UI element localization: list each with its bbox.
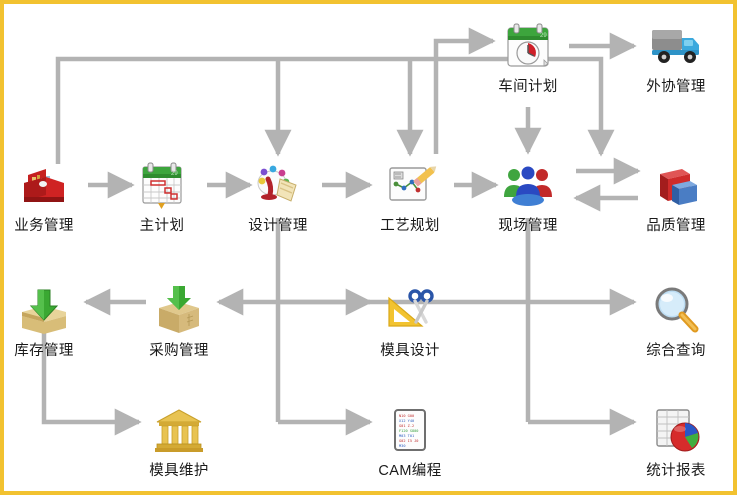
node-business[interactable]: 业务管理: [0, 157, 99, 235]
svg-text:29: 29: [540, 33, 547, 39]
svg-text:M03 T01: M03 T01: [399, 434, 414, 438]
ruler-scissors-icon: [382, 282, 438, 338]
node-label: 品质管理: [621, 217, 731, 235]
node-inventory[interactable]: 库存管理: [0, 282, 99, 360]
node-quality[interactable]: 品质管理: [621, 157, 731, 235]
svg-text:G02 I5 J0: G02 I5 J0: [399, 439, 418, 443]
paint-palette-icon: [250, 157, 306, 213]
node-label: CAM编程: [355, 462, 465, 480]
node-label: 模具维护: [124, 462, 234, 480]
gantt-calendar-icon: 29: [134, 157, 190, 213]
code-document-icon: N10 G00 X12 Y40 G01 Z-2 F120 S800 M03 T0…: [382, 402, 438, 458]
inbox-download-icon: [16, 282, 72, 338]
node-reports[interactable]: 统计报表: [621, 402, 731, 480]
svg-text:X12 Y40: X12 Y40: [399, 419, 414, 423]
red-blue-boxes-icon: [648, 157, 704, 213]
node-label: 设计管理: [223, 217, 333, 235]
diagram-canvas: 29 车间计划: [0, 0, 737, 495]
people-group-icon: [500, 157, 556, 213]
node-label: 主计划: [107, 217, 217, 235]
node-mold-design[interactable]: 模具设计: [355, 282, 465, 360]
node-process-plan[interactable]: 工艺规划: [355, 157, 465, 235]
node-label: 采购管理: [124, 342, 234, 360]
node-workshop-plan[interactable]: 29 车间计划: [473, 18, 583, 96]
node-query[interactable]: 综合查询: [621, 282, 731, 360]
node-master-plan[interactable]: 29 主计划: [107, 157, 217, 235]
calendar-clock-icon: 29: [500, 18, 556, 74]
magnifier-icon: [648, 282, 704, 338]
node-label: 业务管理: [0, 217, 99, 235]
node-label: 现场管理: [473, 217, 583, 235]
svg-text:N10 G00: N10 G00: [399, 414, 414, 418]
node-label: 模具设计: [355, 342, 465, 360]
bank-pillars-icon: [151, 402, 207, 458]
node-cam[interactable]: N10 G00 X12 Y40 G01 Z-2 F120 S800 M03 T0…: [355, 402, 465, 480]
node-label: 工艺规划: [355, 217, 465, 235]
package-download-icon: [151, 282, 207, 338]
wire-business-to-top-bus: [58, 59, 410, 164]
svg-text:F120 S800: F120 S800: [399, 429, 418, 433]
toolbox-icon: [16, 157, 72, 213]
node-shopfloor[interactable]: 现场管理: [473, 157, 583, 235]
node-label: 外协管理: [621, 78, 731, 96]
flowchart-pencil-icon: [382, 157, 438, 213]
node-purchase[interactable]: 采购管理: [124, 282, 234, 360]
node-design[interactable]: 设计管理: [223, 157, 333, 235]
node-outsourcing[interactable]: 外协管理: [621, 18, 731, 96]
svg-text:M30: M30: [399, 444, 406, 448]
svg-text:G01 Z-2: G01 Z-2: [399, 424, 414, 428]
table-piechart-icon: [648, 402, 704, 458]
node-label: 综合查询: [621, 342, 731, 360]
svg-text:29: 29: [171, 171, 178, 177]
node-label: 车间计划: [473, 78, 583, 96]
node-mold-maintenance[interactable]: 模具维护: [124, 402, 234, 480]
truck-icon: [648, 18, 704, 74]
node-label: 统计报表: [621, 462, 731, 480]
node-label: 库存管理: [0, 342, 99, 360]
